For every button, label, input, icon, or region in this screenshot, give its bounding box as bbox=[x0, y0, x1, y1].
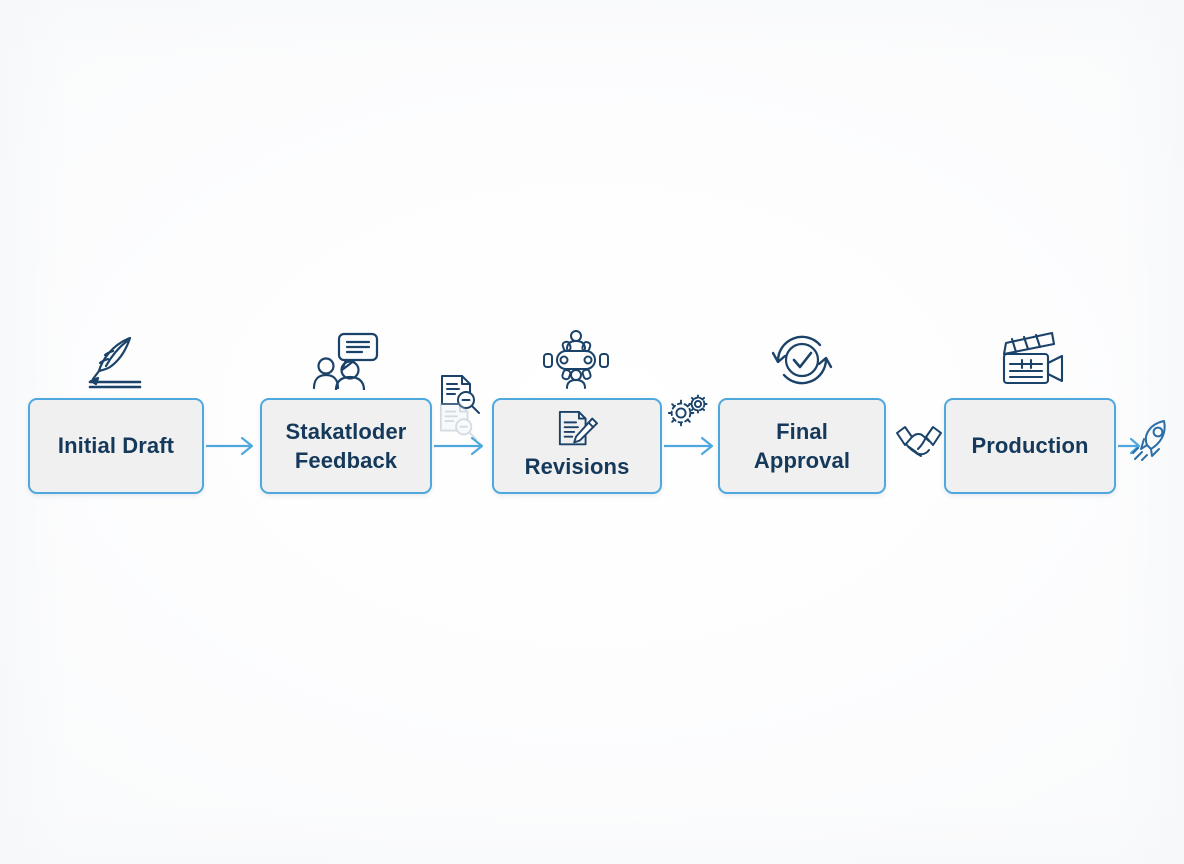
step-label-initial-draft: Initial Draft bbox=[58, 431, 174, 460]
step-box-initial-draft[interactable]: Initial Draft bbox=[28, 398, 204, 494]
handshake-icon bbox=[894, 418, 944, 464]
rocket-icon bbox=[1130, 418, 1178, 464]
connector-arrow-1 bbox=[206, 434, 260, 458]
document-search-icon-ghost bbox=[437, 402, 479, 442]
quill-pen-icon bbox=[86, 330, 148, 390]
checkmark-refresh-icon bbox=[770, 330, 834, 390]
step-label-stakeholder-feedback: Stakatloder Feedback bbox=[286, 417, 407, 475]
step-box-production[interactable]: Production bbox=[944, 398, 1116, 494]
step-box-stakeholder-feedback[interactable]: Stakatloder Feedback bbox=[260, 398, 432, 494]
step-label-production: Production bbox=[971, 431, 1088, 460]
document-pencil-icon bbox=[556, 410, 598, 450]
step-box-final-approval[interactable]: Final Approval bbox=[718, 398, 886, 494]
people-speech-bubble-icon bbox=[312, 332, 380, 390]
gears-icon bbox=[668, 392, 710, 428]
meeting-table-icon bbox=[542, 330, 610, 390]
step-box-revisions[interactable]: Revisions bbox=[492, 398, 662, 494]
clapperboard-icon bbox=[998, 330, 1068, 390]
step-label-revisions: Revisions bbox=[525, 452, 630, 481]
step-label-final-approval: Final Approval bbox=[754, 417, 850, 475]
process-flow-diagram: Initial Draft Stakatloder Feedback bbox=[0, 0, 1184, 864]
connector-arrow-3 bbox=[664, 434, 720, 458]
